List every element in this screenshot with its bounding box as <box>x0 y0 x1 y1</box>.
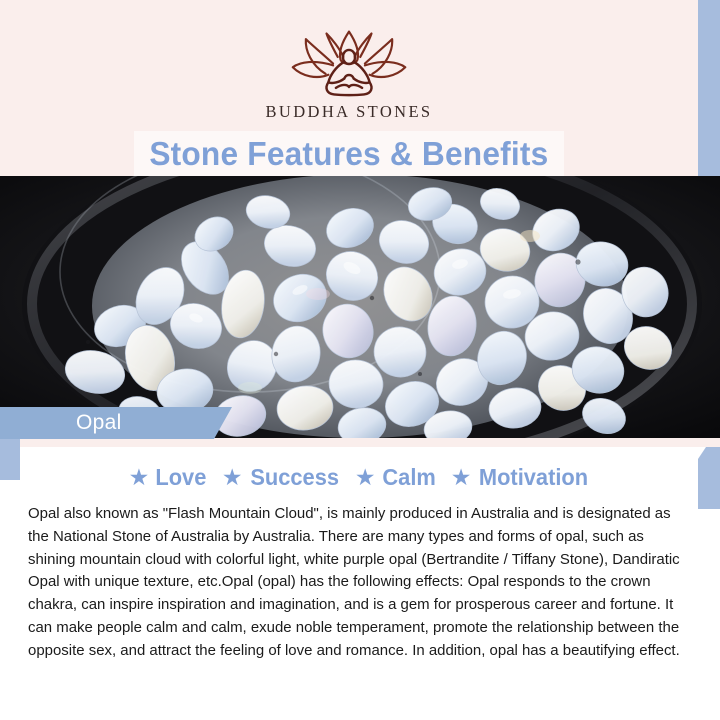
content-section: ★ Love ★ Success ★ Calm ★ Motivation Opa… <box>0 447 720 720</box>
brand-name: BUDDHA STONES <box>265 102 432 122</box>
lotus-meditation-logo-icon <box>269 26 429 100</box>
benefit-label: Love <box>156 464 207 491</box>
title-panel: Stone Features & Benefits <box>134 131 564 176</box>
description-text: Opal also known as "Flash Mountain Cloud… <box>28 503 682 663</box>
benefits-row: ★ Love ★ Success ★ Calm ★ Motivation <box>0 464 720 491</box>
star-icon: ★ <box>355 466 376 489</box>
star-icon: ★ <box>451 466 472 489</box>
benefit-item-motivation: ★ Motivation <box>451 464 592 491</box>
right-blue-accent <box>698 447 720 509</box>
left-blue-accent <box>0 432 20 480</box>
photo-caption-banner: Opal <box>0 407 232 439</box>
benefit-item-love: ★ Love <box>129 464 208 491</box>
right-blue-edge-accent <box>698 0 720 176</box>
cream-divider-strip <box>0 438 720 447</box>
benefit-label: Motivation <box>479 464 588 491</box>
product-photo <box>0 176 720 438</box>
header-inner: BUDDHA STONES Stone Features & Benefits <box>0 14 698 176</box>
infographic-page: BUDDHA STONES Stone Features & Benefits <box>0 0 720 720</box>
benefit-label: Calm <box>382 464 435 491</box>
header: BUDDHA STONES Stone Features & Benefits <box>0 0 698 176</box>
star-icon: ★ <box>222 466 243 489</box>
benefit-item-success: ★ Success <box>222 464 341 491</box>
benefit-item-calm: ★ Calm <box>355 464 437 491</box>
benefit-label: Success <box>250 464 339 491</box>
photo-caption-label: Opal <box>76 411 122 435</box>
star-icon: ★ <box>129 466 150 489</box>
page-title: Stone Features & Benefits <box>149 135 548 173</box>
